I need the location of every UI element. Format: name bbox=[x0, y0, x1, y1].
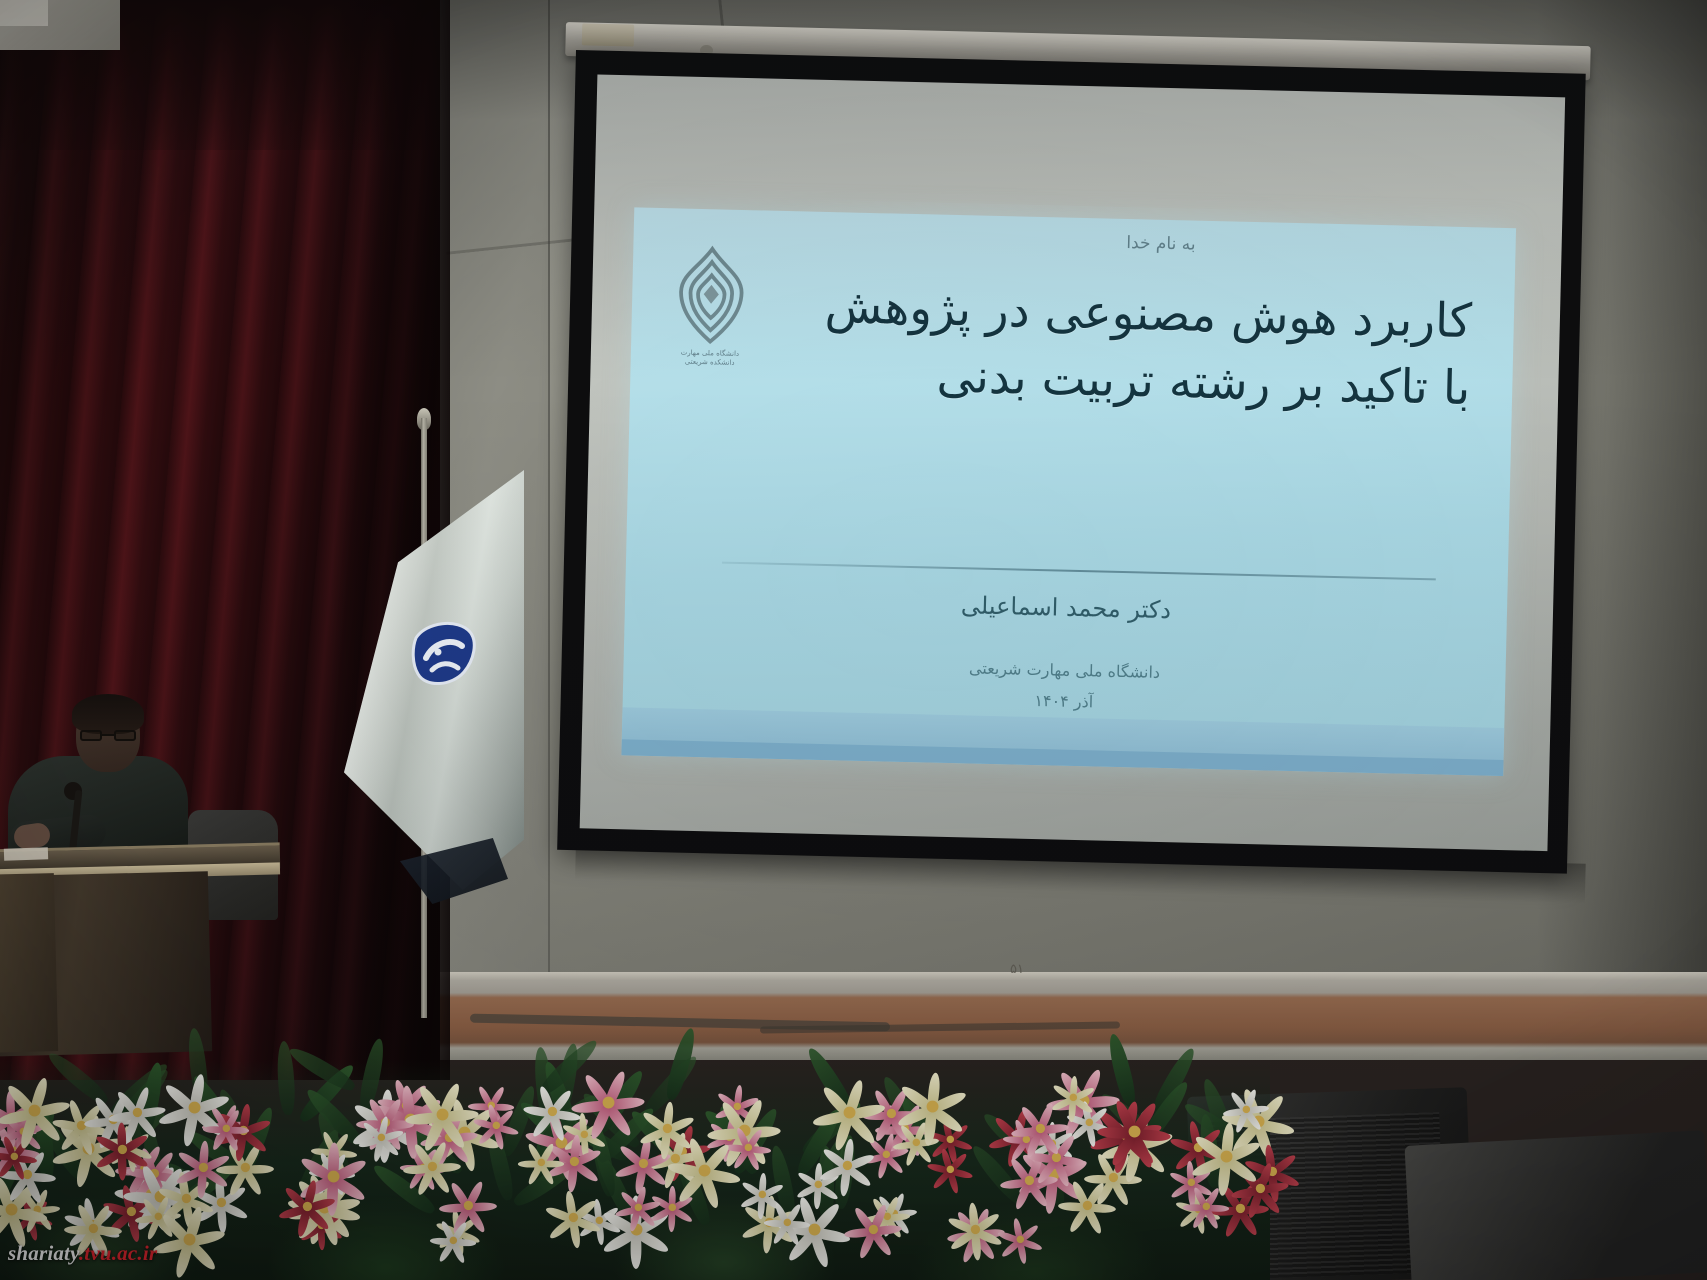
stage-flower-arrangement bbox=[0, 1020, 1270, 1280]
screen-mount-bracket bbox=[582, 23, 635, 46]
speaker-hair bbox=[72, 694, 144, 734]
flower-bloom bbox=[943, 1197, 1006, 1260]
flower-bloom bbox=[0, 1070, 74, 1150]
speaker-glasses bbox=[80, 730, 136, 741]
loudspeaker-cabinet-right bbox=[1404, 1130, 1707, 1280]
projection-screen-frame: به نام خدا دانشگاه ملی مهارت دانشکده شری… bbox=[557, 50, 1586, 874]
flower-bloom bbox=[201, 1102, 251, 1152]
flower-bloom bbox=[276, 1175, 339, 1238]
projection-screen-surface: به نام خدا دانشگاه ملی مهارت دانشکده شری… bbox=[580, 75, 1565, 852]
flower-bloom bbox=[427, 1215, 477, 1265]
flower-bloom bbox=[471, 1100, 521, 1150]
university-logo: دانشگاه ملی مهارت دانشکده شریعتی bbox=[660, 242, 761, 374]
watermark-site-domain: .tvu.ac.ir bbox=[79, 1241, 157, 1265]
flower-bloom bbox=[815, 1134, 878, 1197]
slide-invocation-text: به نام خدا bbox=[1126, 233, 1196, 255]
flower-bloom bbox=[892, 1066, 972, 1146]
flower-bloom bbox=[1181, 1181, 1231, 1231]
flower-bloom bbox=[842, 1197, 905, 1260]
flower-bloom bbox=[520, 1079, 583, 1142]
flower-bloom bbox=[924, 1144, 974, 1194]
watermark-site-name: shariaty bbox=[8, 1241, 79, 1265]
slide-divider bbox=[722, 562, 1436, 581]
flower-bloom bbox=[149, 1199, 229, 1279]
flower-bloom bbox=[613, 1182, 663, 1232]
presentation-slide: به نام خدا دانشگاه ملی مهارت دانشکده شری… bbox=[621, 207, 1516, 776]
flower-bloom bbox=[515, 1137, 565, 1187]
university-logo-icon bbox=[661, 242, 761, 348]
site-watermark: shariaty.tvu.ac.ir bbox=[8, 1241, 157, 1266]
flower-bloom bbox=[1055, 1174, 1118, 1237]
podium-papers bbox=[4, 847, 48, 861]
logo-caption-line-2: دانشکده شریعتی bbox=[661, 357, 759, 368]
flower-bloom bbox=[664, 1130, 744, 1210]
flower-bloom bbox=[400, 1135, 463, 1198]
ceiling-corner-highlight bbox=[0, 0, 48, 26]
flower-bloom bbox=[542, 1185, 605, 1248]
slide-title: کاربرد هوش مصنوعی در پژوهش با تاکید بر ر… bbox=[750, 272, 1473, 422]
flower-bloom bbox=[90, 1117, 153, 1180]
flower-bloom bbox=[1008, 1096, 1071, 1159]
wall-marker-text: ۵۱ bbox=[1010, 962, 1036, 976]
flower-bloom bbox=[1094, 1091, 1174, 1171]
slide-author-name: دکتر محمد اسماعیلی bbox=[625, 583, 1507, 632]
flower-bloom bbox=[761, 1197, 811, 1247]
university-logo-caption: دانشگاه ملی مهارت دانشکده شریعتی bbox=[661, 348, 759, 368]
photo-scene: ۵۱ به نام خدا bbox=[0, 0, 1707, 1280]
